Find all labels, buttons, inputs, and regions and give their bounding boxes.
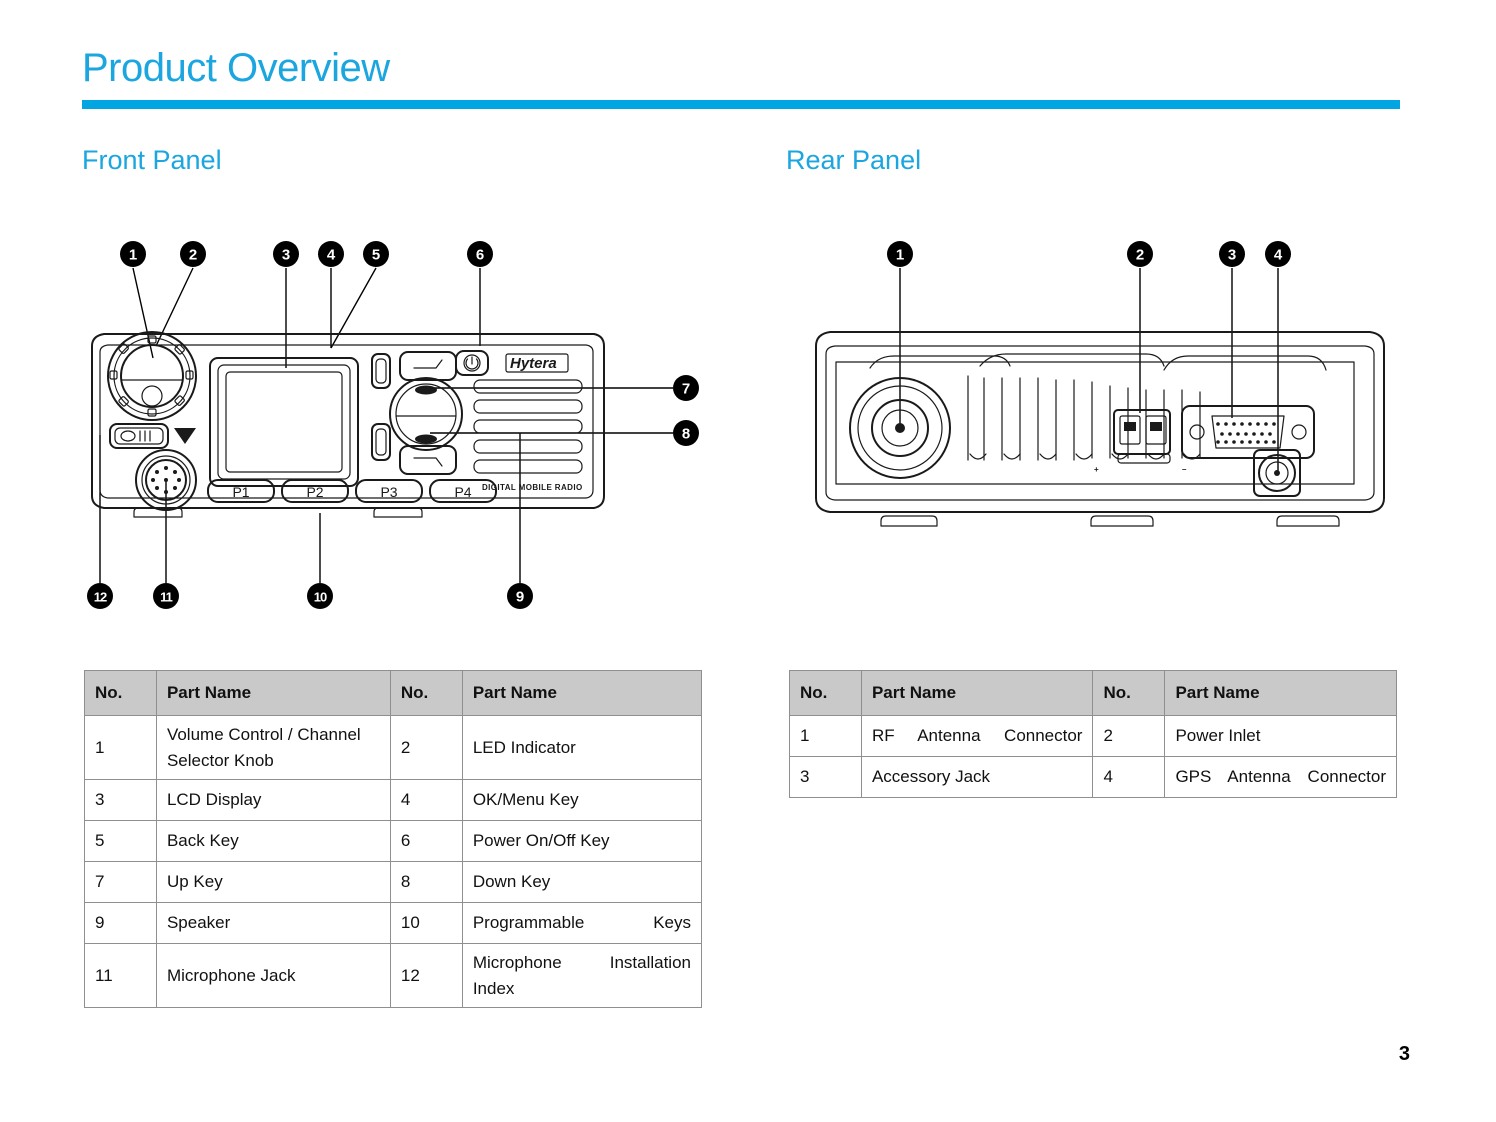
svg-text:11: 11 [160, 590, 173, 605]
cell-part-name: Back Key [156, 821, 390, 862]
svg-text:2: 2 [1136, 247, 1144, 264]
programmable-key-p3-label: P3 [380, 484, 397, 500]
navigation-ring[interactable] [390, 378, 462, 450]
rear-callout-1: 1 [887, 241, 913, 267]
rear-callout-3: 3 [1219, 241, 1245, 267]
front-callout-6: 6 [467, 241, 493, 267]
header-no-1: No. [85, 671, 157, 716]
cell-no: 2 [1093, 716, 1165, 757]
front-callout-1: 1 [120, 241, 146, 267]
volume-channel-knob[interactable] [108, 332, 196, 420]
side-function-key[interactable] [372, 424, 390, 460]
cell-no: 4 [390, 780, 462, 821]
rear-callout-4: 4 [1265, 241, 1291, 267]
table-row: 1 Volume Control / Channel Selector Knob… [85, 716, 702, 780]
svg-text:6: 6 [476, 247, 484, 264]
front-callout-2: 2 [180, 241, 206, 267]
svg-text:3: 3 [282, 247, 290, 264]
gps-antenna-connector[interactable] [1254, 450, 1300, 496]
programmable-key-p4-label: P4 [454, 484, 471, 500]
down-key [415, 435, 437, 444]
up-key [415, 386, 437, 395]
lcd-display [210, 358, 358, 486]
back-key[interactable] [372, 354, 390, 388]
front-callout-9: 9 [507, 583, 533, 609]
power-on-off-key[interactable] [456, 351, 488, 375]
table-row: 7 Up Key 8 Down Key [85, 862, 702, 903]
cell-no: 6 [390, 821, 462, 862]
rear-leader-lines [900, 268, 1278, 473]
table-row: 3 LCD Display 4 OK/Menu Key [85, 780, 702, 821]
rear-panel-heading: Rear Panel [786, 147, 921, 174]
rear-panel-parts-table: No. Part Name No. Part Name 1 RF Antenna… [789, 670, 1397, 798]
cell-part-name: Power On/Off Key [462, 821, 701, 862]
svg-text:9: 9 [516, 589, 524, 606]
ok-menu-key[interactable] [400, 352, 456, 380]
cell-no: 4 [1093, 757, 1165, 798]
cell-no: 2 [390, 716, 462, 780]
power-inlet[interactable] [1114, 410, 1170, 463]
svg-text:4: 4 [1274, 247, 1283, 264]
header-part-name-2: Part Name [462, 671, 701, 716]
cell-part-name: Up Key [156, 862, 390, 903]
programmable-key-p1-label: P1 [232, 484, 249, 500]
cell-no: 10 [390, 903, 462, 944]
cell-part-name: OK/Menu Key [462, 780, 701, 821]
svg-text:1: 1 [896, 247, 904, 264]
table-row: 1 RF Antenna Connector 2 Power Inlet [790, 716, 1397, 757]
digital-mobile-radio-text: DIGITAL MOBILE RADIO [482, 483, 583, 492]
cell-part-name: Volume Control / Channel Selector Knob [156, 716, 390, 780]
page-number: 3 [1399, 1043, 1410, 1066]
table-row: 11 Microphone Jack 12 Microphone Install… [85, 944, 702, 1008]
programmable-key-p2-label: P2 [306, 484, 323, 500]
programmable-keys[interactable]: P1 P2 P3 P4 [208, 480, 496, 502]
front-callout-3: 3 [273, 241, 299, 267]
cell-no: 12 [390, 944, 462, 1008]
table-row: 3 Accessory Jack 4 GPS Antenna Connector [790, 757, 1397, 798]
header-part-name-1: Part Name [156, 671, 390, 716]
speaker [474, 380, 582, 473]
front-callout-4: 4 [318, 241, 344, 267]
microphone-jack[interactable] [136, 450, 196, 510]
cell-part-name: Accessory Jack [861, 757, 1093, 798]
cell-no: 3 [85, 780, 157, 821]
rear-panel-diagram: + – 1 2 3 4 [800, 228, 1400, 618]
svg-text:10: 10 [314, 590, 327, 605]
front-panel-parts-table: No. Part Name No. Part Name 1 Volume Con… [84, 670, 702, 1008]
cell-no: 8 [390, 862, 462, 903]
header-part-name-1: Part Name [861, 671, 1093, 716]
svg-text:5: 5 [372, 247, 380, 264]
brand-logo-text: Hytera [510, 355, 557, 372]
front-callout-8: 8 [673, 420, 699, 446]
table-row: 9 Speaker 10 Programmable Keys [85, 903, 702, 944]
front-callout-5: 5 [363, 241, 389, 267]
header-part-name-2: Part Name [1165, 671, 1397, 716]
front-panel-diagram: Hytera DIGITAL MOBILE RADIO P1 P2 P3 P4 … [78, 228, 718, 618]
header-no-2: No. [390, 671, 462, 716]
cell-part-name: LCD Display [156, 780, 390, 821]
svg-text:8: 8 [682, 426, 690, 443]
polarity-minus-label: – [1182, 465, 1187, 474]
svg-text:3: 3 [1228, 247, 1236, 264]
cell-no: 5 [85, 821, 157, 862]
svg-text:12: 12 [94, 590, 107, 605]
cell-part-name: Microphone Jack [156, 944, 390, 1008]
table-row: 5 Back Key 6 Power On/Off Key [85, 821, 702, 862]
cell-no: 11 [85, 944, 157, 1008]
front-callout-11: 11 [153, 583, 179, 609]
table-header-row: No. Part Name No. Part Name [790, 671, 1397, 716]
cell-no: 1 [790, 716, 862, 757]
cell-part-name: Programmable Keys [462, 903, 701, 944]
cell-part-name: Down Key [462, 862, 701, 903]
microphone-installation-index-marker [174, 428, 196, 444]
front-callout-7: 7 [673, 375, 699, 401]
cell-no: 9 [85, 903, 157, 944]
svg-text:7: 7 [682, 381, 690, 398]
rear-callout-2: 2 [1127, 241, 1153, 267]
cell-part-name: RF Antenna Connector [861, 716, 1093, 757]
cell-no: 3 [790, 757, 862, 798]
cell-no: 7 [85, 862, 157, 903]
cell-part-name: Power Inlet [1165, 716, 1397, 757]
svg-text:4: 4 [327, 247, 336, 264]
front-panel-heading: Front Panel [82, 147, 222, 174]
page-title: Product Overview [82, 48, 390, 88]
cell-part-name: GPS Antenna Connector [1165, 757, 1397, 798]
header-no-2: No. [1093, 671, 1165, 716]
svg-text:2: 2 [189, 247, 197, 264]
cell-no: 1 [85, 716, 157, 780]
front-callout-10: 10 [307, 583, 333, 609]
front-callout-12: 12 [87, 583, 113, 609]
svg-text:1: 1 [129, 247, 137, 264]
cell-part-name: Microphone Installation Index [462, 944, 701, 1008]
led-indicator [110, 424, 168, 448]
polarity-plus-label: + [1094, 465, 1099, 474]
header-no-1: No. [790, 671, 862, 716]
title-underline-rule [82, 100, 1400, 109]
cell-part-name: LED Indicator [462, 716, 701, 780]
table-header-row: No. Part Name No. Part Name [85, 671, 702, 716]
cell-part-name: Speaker [156, 903, 390, 944]
